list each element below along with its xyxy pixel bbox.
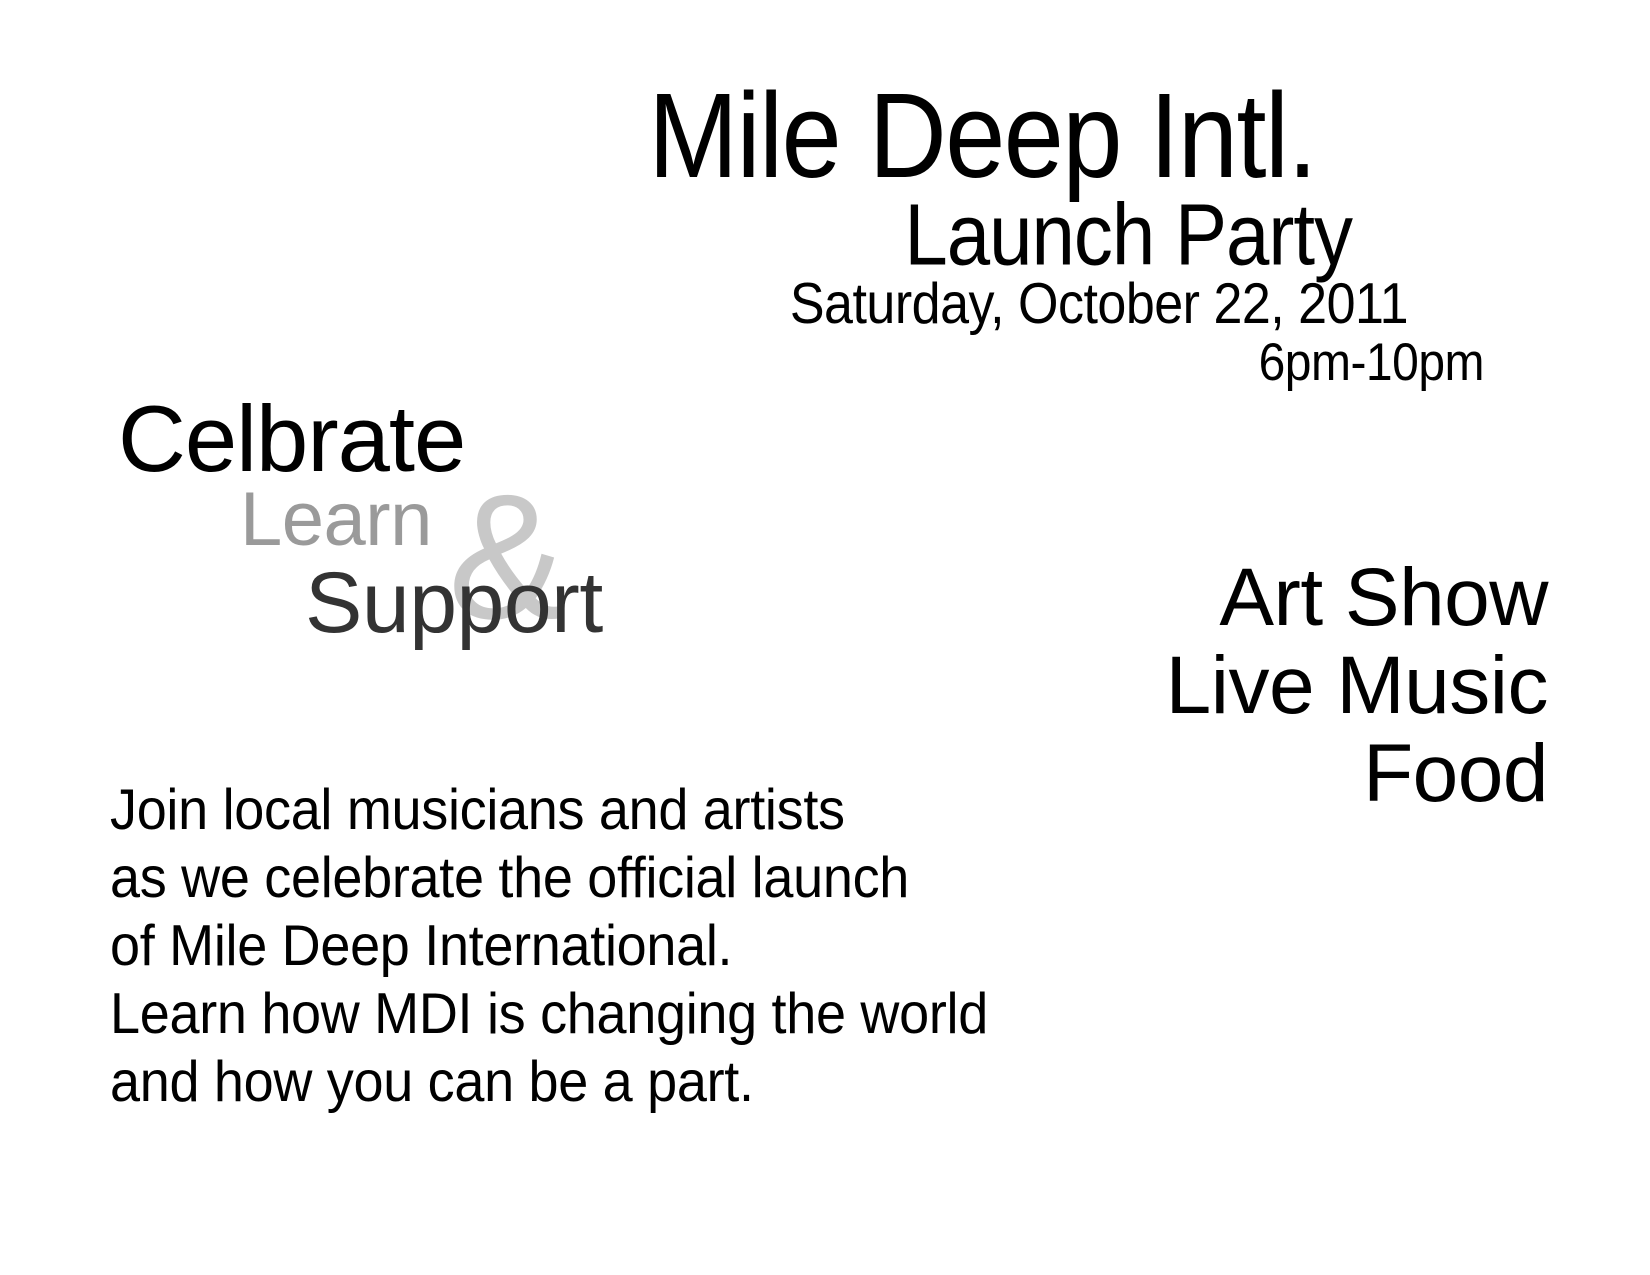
event-date: Saturday, October 22, 2011 [0, 276, 1408, 333]
value-celebrate: Celbrate [118, 392, 465, 486]
body-line: Learn how MDI is changing the world [110, 978, 1170, 1050]
body-line: as we celebrate the official launch [110, 842, 1170, 914]
body-copy: Join local musicians and artists as we c… [110, 778, 1170, 1118]
body-line: of Mile Deep International. [110, 910, 1170, 982]
event-type-title: Launch Party [0, 191, 1352, 278]
feature-live-music: Live Music [900, 645, 1548, 727]
values-cluster: & Celbrate Learn Support [0, 380, 780, 670]
body-line: Join local musicians and artists [110, 774, 1170, 846]
value-learn: Learn [240, 482, 432, 558]
feature-art-show: Art Show [900, 557, 1548, 639]
event-flyer: Mile Deep Intl. Launch Party Saturday, O… [0, 0, 1650, 1275]
value-support: Support [305, 560, 603, 646]
organization-name: Mile Deep Intl. [0, 75, 1316, 196]
body-line: and how you can be a part. [110, 1046, 1170, 1118]
